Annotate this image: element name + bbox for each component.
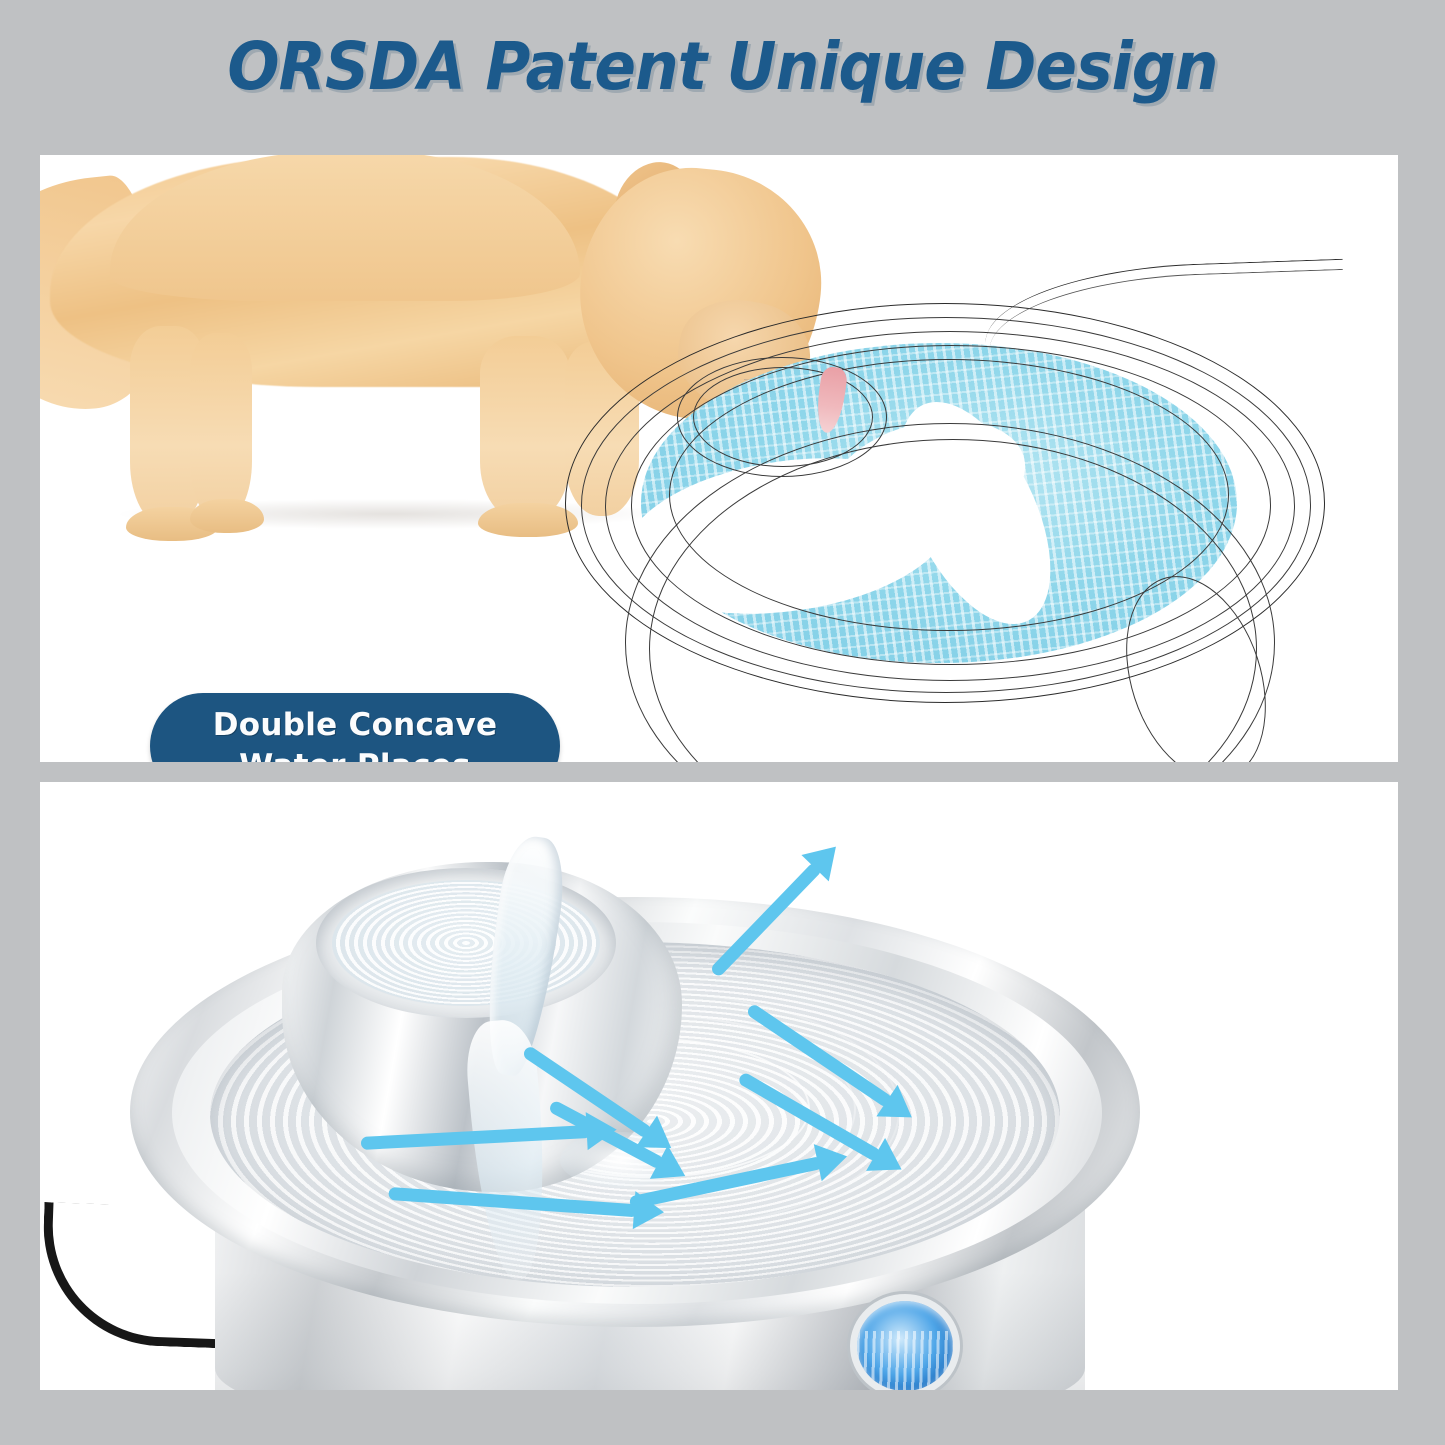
cat-paw-3 <box>478 503 578 537</box>
badge-line-2: Water Places <box>239 746 471 762</box>
feature-panel-bottom: Double slopes Licking enough Oxygen-enri… <box>40 782 1398 1390</box>
water-level-window <box>850 1294 960 1390</box>
badge-line-1: Double Concave <box>213 705 498 746</box>
steel-fountain-illustration <box>60 802 1070 1390</box>
feature-panel-top: Double Concave Water Places Good for ton… <box>40 155 1398 762</box>
badge-double-concave[interactable]: Double Concave Water Places <box>150 693 560 762</box>
cat-front-leg-2 <box>190 333 252 521</box>
cat-paw-2 <box>190 499 264 533</box>
cat-rear-leg <box>480 336 570 521</box>
product-feature-graphic: ORSDA Patent Unique Design <box>0 0 1445 1445</box>
water-level-wave <box>850 1331 960 1390</box>
cord-line-2 <box>987 269 1347 397</box>
page-title: ORSDA Patent Unique Design <box>51 28 1395 105</box>
fountain-line-art <box>565 273 1365 762</box>
